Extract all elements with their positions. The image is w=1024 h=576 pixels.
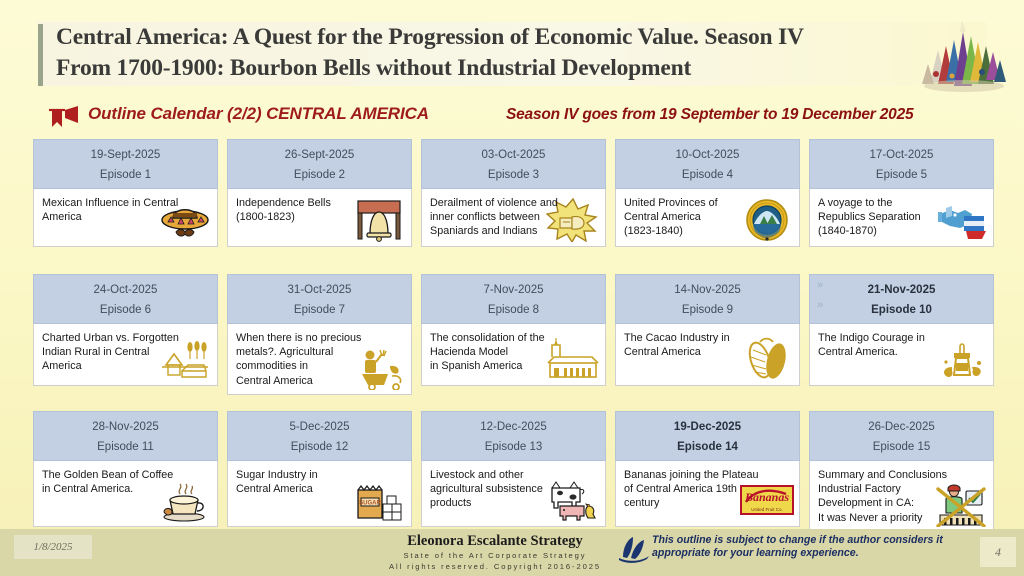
page-title: Central America: A Quest for the Progres… [56, 22, 936, 84]
episode-card-header: 19-Dec-2025Episode 14 [615, 411, 800, 461]
episode-description: The Cacao Industry in Central America [624, 331, 752, 359]
episode-card-header: 12-Dec-2025Episode 13 [421, 411, 606, 461]
brand-rights: All rights reserved. Copyright 2016-2025 [330, 561, 660, 572]
episode-card-body: Sugar Industry in Central AmericaSUGAR [227, 461, 412, 527]
episode-description: Summary and Conclusions Industrial Facto… [818, 468, 985, 525]
footer-date: 1/8/2025 [14, 535, 92, 559]
episode-card[interactable]: 31-Oct-2025Episode 7When there is no pre… [227, 274, 412, 395]
episode-description: Sugar Industry in Central America [236, 468, 364, 496]
episode-card-body: Mexican Influence in Central America [33, 189, 218, 247]
footer-bar: 1/8/2025 Eleonora Escalante Strategy Sta… [0, 529, 1024, 576]
episode-number: Episode 5 [810, 165, 993, 185]
episode-description: A voyage to the Republics Separation (18… [818, 196, 946, 239]
episode-number: Episode 4 [616, 165, 799, 185]
episode-card-body: Livestock and other agricultural subsist… [421, 461, 606, 527]
episode-card-header: 26-Sept-2025Episode 2 [227, 139, 412, 189]
page-number: 4 [980, 537, 1016, 567]
episode-card[interactable]: 12-Dec-2025Episode 13Livestock and other… [421, 411, 606, 527]
episode-description: Charted Urban vs. Forgotten Indian Rural… [42, 331, 209, 374]
outline-calendar-label: Outline Calendar (2/2) CENTRAL AMERICA [88, 104, 429, 124]
episode-card[interactable]: 5-Dec-2025Episode 12Sugar Industry in Ce… [227, 411, 412, 527]
episode-number: Episode 1 [34, 165, 217, 185]
colorful-cones-art-icon [916, 20, 1012, 96]
episode-card-header: 17-Oct-2025Episode 5 [809, 139, 994, 189]
episode-description: The Indigo Courage in Central America. [818, 331, 946, 359]
episode-card-header: 28-Nov-2025Episode 11 [33, 411, 218, 461]
episode-number: Episode 11 [34, 437, 217, 457]
brand-name: Eleonora Escalante Strategy [330, 533, 660, 550]
episode-card-body: Derailment of violence and inner conflic… [421, 189, 606, 247]
episode-date: 31-Oct-2025 [228, 280, 411, 300]
episode-card-body: The consolidation of the Hacienda Model … [421, 324, 606, 386]
title-line-1: Central America: A Quest for the Progres… [56, 22, 936, 53]
episode-date: 7-Nov-2025 [422, 280, 605, 300]
episode-card-header: 26-Dec-2025Episode 15 [809, 411, 994, 461]
episode-card-header: 14-Nov-2025Episode 9 [615, 274, 800, 324]
episode-card[interactable]: 14-Nov-2025Episode 9The Cacao Industry i… [615, 274, 800, 386]
episode-card-header: 10-Oct-2025Episode 4 [615, 139, 800, 189]
episode-card-header: 19-Sept-2025Episode 1 [33, 139, 218, 189]
chevron-bullet-icon: » [817, 275, 823, 295]
episode-card-header: »»21-Nov-2025Episode 10 [809, 274, 994, 324]
episode-card-body: Charted Urban vs. Forgotten Indian Rural… [33, 324, 218, 386]
episode-card[interactable]: 10-Oct-2025Episode 4United Provinces of … [615, 139, 800, 247]
episode-number: Episode 3 [422, 165, 605, 185]
episode-number: Episode 2 [228, 165, 411, 185]
slide-canvas: Central America: A Quest for the Progres… [0, 0, 1024, 576]
brand-tagline: State of the Art Corporate Strategy [330, 550, 660, 561]
episode-description: The Golden Bean of Coffee in Central Ame… [42, 468, 209, 496]
episode-card[interactable]: 19-Sept-2025Episode 1Mexican Influence i… [33, 139, 218, 247]
episode-description: Mexican Influence in Central America [42, 196, 209, 224]
episode-grid: 19-Sept-2025Episode 1Mexican Influence i… [33, 139, 996, 521]
episode-card-body: Summary and Conclusions Industrial Facto… [809, 461, 994, 532]
episode-description: Bananas joining the Plateau of Central A… [624, 468, 791, 511]
episode-date: 5-Dec-2025 [228, 417, 411, 437]
episode-number: Episode 12 [228, 437, 411, 457]
episode-number: Episode 14 [616, 437, 799, 457]
chevron-bullet-icon: » [817, 295, 823, 315]
episode-date: 26-Dec-2025 [810, 417, 993, 437]
episode-card-header: 5-Dec-2025Episode 12 [227, 411, 412, 461]
episode-card[interactable]: 7-Nov-2025Episode 8The consolidation of … [421, 274, 606, 386]
episode-date: 19-Sept-2025 [34, 145, 217, 165]
title-accent-bar [38, 24, 43, 86]
episode-card[interactable]: 28-Nov-2025Episode 11The Golden Bean of … [33, 411, 218, 527]
episode-number: Episode 10 [810, 300, 993, 320]
episode-card-body: The Cacao Industry in Central America [615, 324, 800, 386]
episode-date: 26-Sept-2025 [228, 145, 411, 165]
episode-card-body: Independence Bells (1800-1823) [227, 189, 412, 247]
episode-date: 28-Nov-2025 [34, 417, 217, 437]
episode-description: Derailment of violence and inner conflic… [430, 196, 597, 239]
footer-disclaimer: This outline is subject to change if the… [652, 534, 992, 559]
episode-date: 12-Dec-2025 [422, 417, 605, 437]
footer-brand: Eleonora Escalante Strategy State of the… [330, 533, 660, 572]
episode-card[interactable]: 03-Oct-2025Episode 3Derailment of violen… [421, 139, 606, 247]
episode-date: 14-Nov-2025 [616, 280, 799, 300]
episode-date: 10-Oct-2025 [616, 145, 799, 165]
episode-card-body: The Indigo Courage in Central America. [809, 324, 994, 386]
episode-date: 21-Nov-2025 [810, 280, 993, 300]
sailboat-logo-icon [617, 535, 651, 563]
episode-card-body: Bananas joining the Plateau of Central A… [615, 461, 800, 527]
episode-date: 03-Oct-2025 [422, 145, 605, 165]
episode-card-header: 03-Oct-2025Episode 3 [421, 139, 606, 189]
episode-number: Episode 9 [616, 300, 799, 320]
episode-number: Episode 15 [810, 437, 993, 457]
episode-description: Independence Bells (1800-1823) [236, 196, 364, 224]
episode-number: Episode 13 [422, 437, 605, 457]
episode-card-header: 7-Nov-2025Episode 8 [421, 274, 606, 324]
episode-card[interactable]: 26-Dec-2025Episode 15Summary and Conclus… [809, 411, 994, 532]
episode-card[interactable]: »»21-Nov-2025Episode 10The Indigo Courag… [809, 274, 994, 386]
episode-card[interactable]: 19-Dec-2025Episode 14Bananas joining the… [615, 411, 800, 527]
episode-date: 24-Oct-2025 [34, 280, 217, 300]
episode-description: United Provinces of Central America (182… [624, 196, 752, 239]
episode-number: Episode 6 [34, 300, 217, 320]
episode-card-body: United Provinces of Central America (182… [615, 189, 800, 247]
episode-card[interactable]: 24-Oct-2025Episode 6Charted Urban vs. Fo… [33, 274, 218, 386]
episode-card[interactable]: 17-Oct-2025Episode 5A voyage to the Repu… [809, 139, 994, 247]
episode-number: Episode 7 [228, 300, 411, 320]
episode-card-header: 24-Oct-2025Episode 6 [33, 274, 218, 324]
episode-date: 19-Dec-2025 [616, 417, 799, 437]
episode-card-header: 31-Oct-2025Episode 7 [227, 274, 412, 324]
episode-card-body: A voyage to the Republics Separation (18… [809, 189, 994, 247]
episode-description: The consolidation of the Hacienda Model … [430, 331, 597, 374]
episode-card-body: When there is no precious metals?. Agric… [227, 324, 412, 395]
season-range-label: Season IV goes from 19 September to 19 D… [506, 106, 913, 124]
episode-date: 17-Oct-2025 [810, 145, 993, 165]
subtitle-row: Outline Calendar (2/2) CENTRAL AMERICA S… [40, 103, 1000, 133]
title-line-2: From 1700-1900: Bourbon Bells without In… [56, 53, 936, 84]
bugle-banner-icon [44, 105, 84, 131]
episode-description: Livestock and other agricultural subsist… [430, 468, 558, 511]
episode-card[interactable]: 26-Sept-2025Episode 2Independence Bells … [227, 139, 412, 247]
svg-text:SUGAR: SUGAR [359, 501, 381, 507]
episode-number: Episode 8 [422, 300, 605, 320]
episode-description: When there is no precious metals?. Agric… [236, 331, 364, 388]
episode-card-body: The Golden Bean of Coffee in Central Ame… [33, 461, 218, 527]
